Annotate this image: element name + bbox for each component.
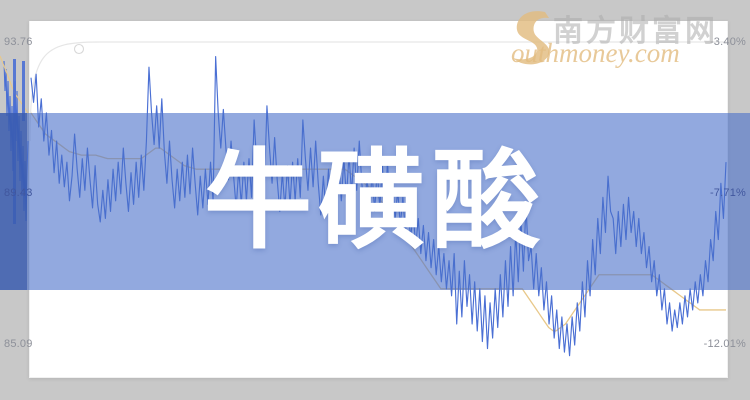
y-axis-label-left-bottom: 85.09 xyxy=(4,338,33,350)
y-axis-label-left-top: 93.76 xyxy=(4,36,33,48)
price-chart-svg[interactable] xyxy=(29,21,728,378)
moving-average-line xyxy=(31,113,726,331)
stock-chart-card[interactable] xyxy=(29,21,728,378)
price-line xyxy=(31,57,726,356)
y-axis-label-left-mid: 89.43 xyxy=(4,187,33,199)
y-axis-label-right-bottom: -12.01% xyxy=(704,338,746,350)
y-axis-label-right-mid: -7.71% xyxy=(710,187,746,199)
screenshot-stage: 牛磺酸 93.76 89.43 85.09 -3.40% -7.71% -12.… xyxy=(0,0,750,400)
y-axis-label-right-top: -3.40% xyxy=(710,36,746,48)
chart-sliver-left xyxy=(0,21,29,378)
